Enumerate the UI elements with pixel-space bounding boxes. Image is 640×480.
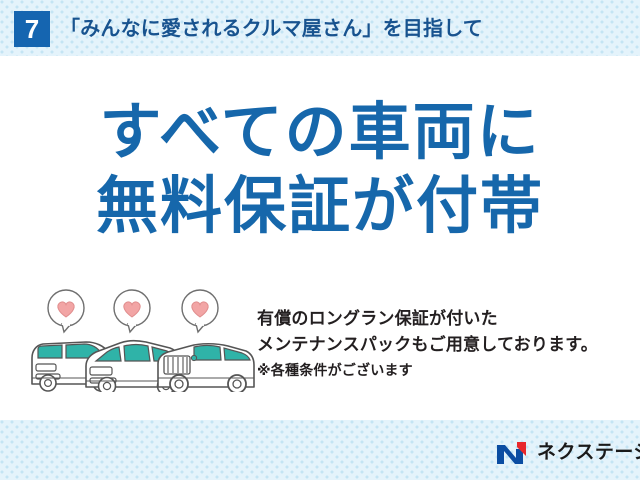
body-copy-note: ※各種条件がございます <box>257 358 637 382</box>
headline-line-2: 無料保証が付帯 <box>0 170 640 244</box>
cars-illustration <box>24 288 260 392</box>
step-number-badge: 7 <box>14 11 50 47</box>
brand-logo: ネクステージ <box>496 440 640 466</box>
heart-bubble-1 <box>48 290 84 332</box>
heart-bubble-2 <box>114 290 150 332</box>
header-title: 「みんなに愛されるクルマ屋さん」を目指して <box>60 13 483 45</box>
headline: すべての車両に 無料保証が付帯 <box>0 96 640 244</box>
heart-bubble-3 <box>182 290 218 332</box>
car-suv <box>158 344 254 392</box>
promo-poster: 7 「みんなに愛されるクルマ屋さん」を目指して すべての車両に 無料保証が付帯 <box>0 0 640 480</box>
n-mark-icon <box>496 441 530 465</box>
body-copy: 有償のロングラン保証が付いた メンテナンスパックもご用意しております。 ※各種条… <box>257 306 637 382</box>
headline-line-1: すべての車両に <box>0 96 640 170</box>
body-copy-line-2: メンテナンスパックもご用意しております。 <box>257 332 637 358</box>
body-copy-line-1: 有償のロングラン保証が付いた <box>257 306 637 332</box>
brand-wordmark: ネクステージ <box>537 440 640 466</box>
